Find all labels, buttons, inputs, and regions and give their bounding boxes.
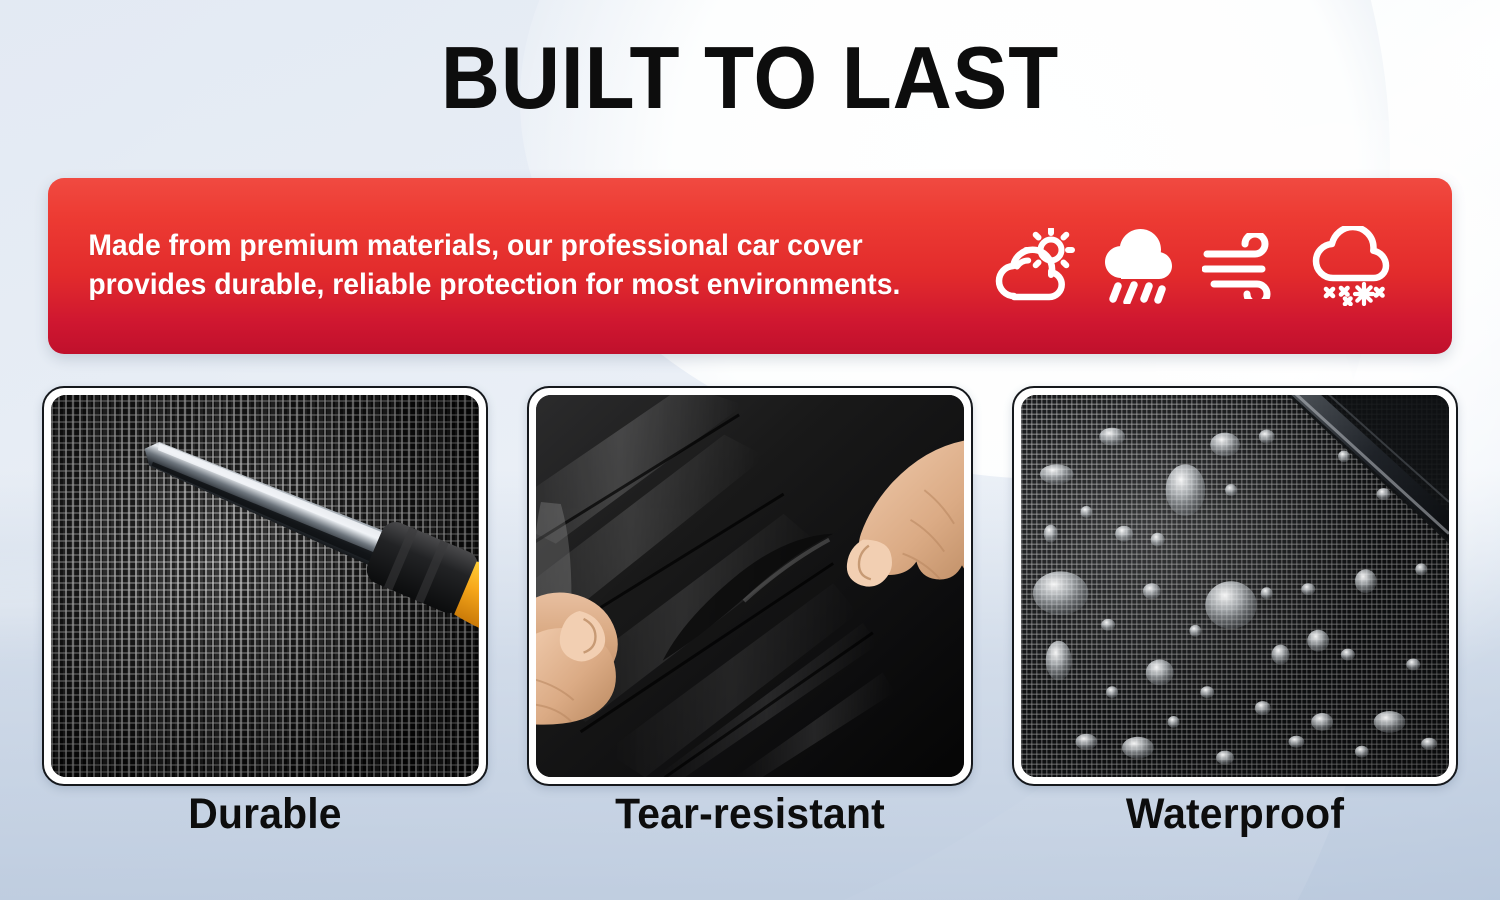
feature-panel-durable [42, 386, 488, 786]
vinyl-stretch-graphic [536, 395, 964, 777]
feature-panel-tear-resistant [527, 386, 973, 786]
caption-waterproof: Waterproof [1023, 792, 1447, 837]
sun-behind-cloud-icon [990, 228, 1078, 304]
caption-tear-resistant: Tear-resistant [538, 792, 962, 837]
feature-image-waterproof [1021, 395, 1449, 777]
feature-caption-row: Durable Tear-resistant Waterproof [42, 792, 1458, 837]
feature-panel-row [42, 386, 1458, 786]
fabric-seam [1277, 395, 1449, 544]
page-title: BUILT TO LAST [53, 34, 1448, 122]
wind-icon [1202, 233, 1288, 299]
caption-durable: Durable [53, 792, 477, 837]
description-banner: Made from premium materials, our profess… [48, 178, 1452, 354]
banner-description-text: Made from premium materials, our profess… [48, 227, 941, 305]
feature-image-tear-resistant [536, 395, 964, 777]
infographic-root: BUILT TO LAST Made from premium material… [0, 0, 1500, 900]
droplet-cluster-large [1033, 428, 1406, 759]
water-droplets-graphic [1021, 395, 1449, 777]
feature-image-durable [51, 395, 479, 777]
weather-icon-group [990, 226, 1396, 306]
snow-cloud-icon [1310, 226, 1396, 306]
feature-panel-waterproof [1012, 386, 1458, 786]
screwdriver-graphic [51, 395, 479, 777]
rain-cloud-icon [1100, 228, 1180, 304]
